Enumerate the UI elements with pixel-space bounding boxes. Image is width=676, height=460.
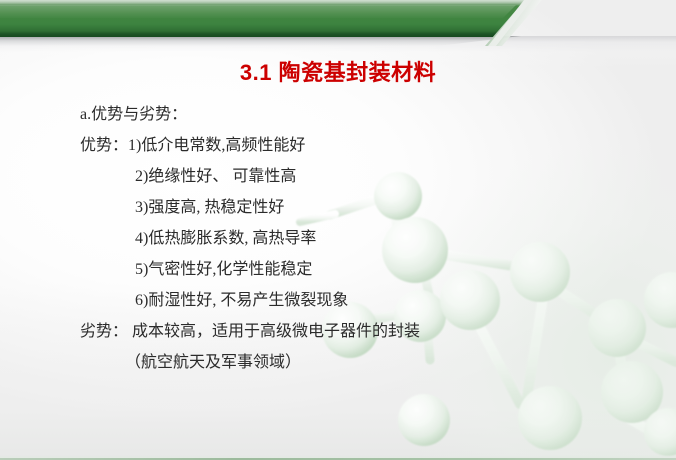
slide-body: a.优势与劣势： 优势：1)低介电常数,高频性能好 2)绝缘性好、 可靠性高 3… xyxy=(80,99,600,378)
slide-canvas: 3.1 陶瓷基封装材料 a.优势与劣势： 优势：1)低介电常数,高频性能好 2)… xyxy=(0,0,676,460)
body-line-adv-4: 4)低热膨胀系数, 高热导率 xyxy=(80,223,600,254)
body-line-adv-2: 2)绝缘性好、 可靠性高 xyxy=(80,161,600,192)
body-line-heading: a.优势与劣势： xyxy=(80,99,600,130)
body-line-adv-6: 6)耐湿性好, 不易产生微裂现象 xyxy=(80,285,600,316)
body-line-disadv-2: （航空航天及军事领域） xyxy=(80,347,600,378)
banner-highlight xyxy=(0,5,516,18)
body-line-disadv-1: 劣势： 成本较高，适用于高级微电子器件的封装 xyxy=(80,316,600,347)
body-line-adv-5: 5)气密性好,化学性能稳定 xyxy=(80,254,600,285)
body-line-adv-3: 3)强度高, 热稳定性好 xyxy=(80,192,600,223)
banner-dropshadow xyxy=(0,36,521,46)
slide-title: 3.1 陶瓷基封装材料 xyxy=(0,55,676,87)
body-line-adv-1: 优势：1)低介电常数,高频性能好 xyxy=(80,130,600,161)
header-banner xyxy=(0,0,676,46)
